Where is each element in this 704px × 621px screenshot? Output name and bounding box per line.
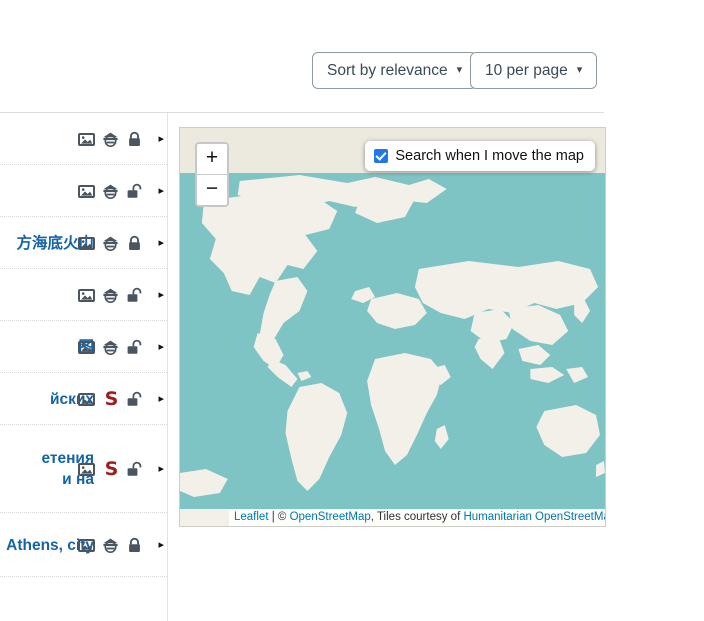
chevron-down-icon: ▾: [577, 53, 583, 88]
leaflet-link[interactable]: Leaflet: [234, 511, 269, 523]
lock-open-icon[interactable]: [126, 183, 143, 200]
chevron-right-icon[interactable]: ▸: [158, 537, 164, 554]
map-landmasses: [180, 173, 605, 527]
per-page-dropdown[interactable]: 10 per page▾: [470, 52, 597, 89]
search-results-list: ▸▸方海底火山▸▸图▸йскихS▸етения и наS▸Athens, c…: [0, 113, 167, 577]
zoom-out-button[interactable]: −: [197, 174, 227, 205]
chevron-right-icon[interactable]: ▸: [158, 461, 164, 478]
lock-closed-icon[interactable]: [126, 131, 143, 148]
image-icon[interactable]: [78, 287, 95, 304]
results-toolbar: Sort by relevance▾ 10 per page▾: [0, 52, 704, 96]
list-item[interactable]: етения и наS▸: [0, 425, 167, 513]
s-icon[interactable]: S: [102, 461, 119, 478]
sort-dropdown[interactable]: Sort by relevance▾: [312, 52, 477, 89]
result-icons: ▸: [78, 287, 164, 304]
image-icon[interactable]: [78, 183, 95, 200]
chevron-right-icon[interactable]: ▸: [158, 235, 164, 252]
per-page-dropdown-label: 10 per page: [485, 62, 568, 79]
s-icon[interactable]: S: [102, 391, 119, 408]
archive-icon[interactable]: [102, 235, 119, 252]
search-when-move-toggle[interactable]: Search when I move the map: [365, 141, 595, 171]
archive-icon[interactable]: [102, 131, 119, 148]
list-item[interactable]: 方海底火山▸: [0, 217, 167, 269]
attribution-middle: , Tiles courtesy of: [371, 511, 464, 523]
lock-open-icon[interactable]: [126, 461, 143, 478]
lock-closed-icon[interactable]: [126, 235, 143, 252]
result-icons: S▸: [78, 461, 164, 478]
list-item[interactable]: ▸: [0, 165, 167, 217]
result-icons: ▸: [78, 339, 164, 356]
result-icons: S▸: [78, 391, 164, 408]
chevron-right-icon[interactable]: ▸: [158, 391, 164, 408]
list-map-divider: [167, 113, 168, 621]
archive-icon[interactable]: [102, 339, 119, 356]
chevron-right-icon[interactable]: ▸: [158, 339, 164, 356]
image-icon[interactable]: [78, 235, 95, 252]
search-when-move-label: Search when I move the map: [395, 148, 584, 164]
lock-open-icon[interactable]: [126, 391, 143, 408]
result-icons: ▸: [78, 235, 164, 252]
map-container[interactable]: + − Search when I move the map Leaflet |…: [179, 127, 606, 527]
list-item[interactable]: ▸: [0, 269, 167, 321]
result-icons: ▸: [78, 537, 164, 554]
lock-closed-icon[interactable]: [126, 537, 143, 554]
result-icons: ▸: [78, 183, 164, 200]
result-icons: ▸: [78, 131, 164, 148]
chevron-right-icon[interactable]: ▸: [158, 183, 164, 200]
chevron-right-icon[interactable]: ▸: [158, 287, 164, 304]
attribution-separator: |: [269, 511, 278, 523]
map-attribution: Leaflet | © OpenStreetMap, Tiles courtes…: [229, 509, 606, 526]
list-item[interactable]: ▸: [0, 113, 167, 165]
openstreetmap-link[interactable]: OpenStreetMap: [290, 511, 371, 523]
archive-icon[interactable]: [102, 183, 119, 200]
chevron-right-icon[interactable]: ▸: [158, 131, 164, 148]
zoom-in-button[interactable]: +: [197, 144, 227, 174]
list-item[interactable]: Athens, city▸: [0, 513, 167, 577]
image-icon[interactable]: [78, 131, 95, 148]
lock-open-icon[interactable]: [126, 287, 143, 304]
archive-icon[interactable]: [102, 537, 119, 554]
image-icon[interactable]: [78, 461, 95, 478]
sort-dropdown-label: Sort by relevance: [327, 62, 448, 79]
image-icon[interactable]: [78, 537, 95, 554]
chevron-down-icon: ▾: [457, 53, 463, 88]
list-item[interactable]: 图▸: [0, 321, 167, 373]
attribution-copyright: ©: [278, 511, 290, 523]
lock-open-icon[interactable]: [126, 339, 143, 356]
checkbox-icon[interactable]: [374, 149, 388, 163]
image-icon[interactable]: [78, 391, 95, 408]
map-zoom-control[interactable]: + −: [195, 142, 229, 207]
hot-link[interactable]: Humanitarian OpenStreetMap Team: [463, 511, 606, 523]
list-item[interactable]: йскихS▸: [0, 373, 167, 425]
image-icon[interactable]: [78, 339, 95, 356]
archive-icon[interactable]: [102, 287, 119, 304]
